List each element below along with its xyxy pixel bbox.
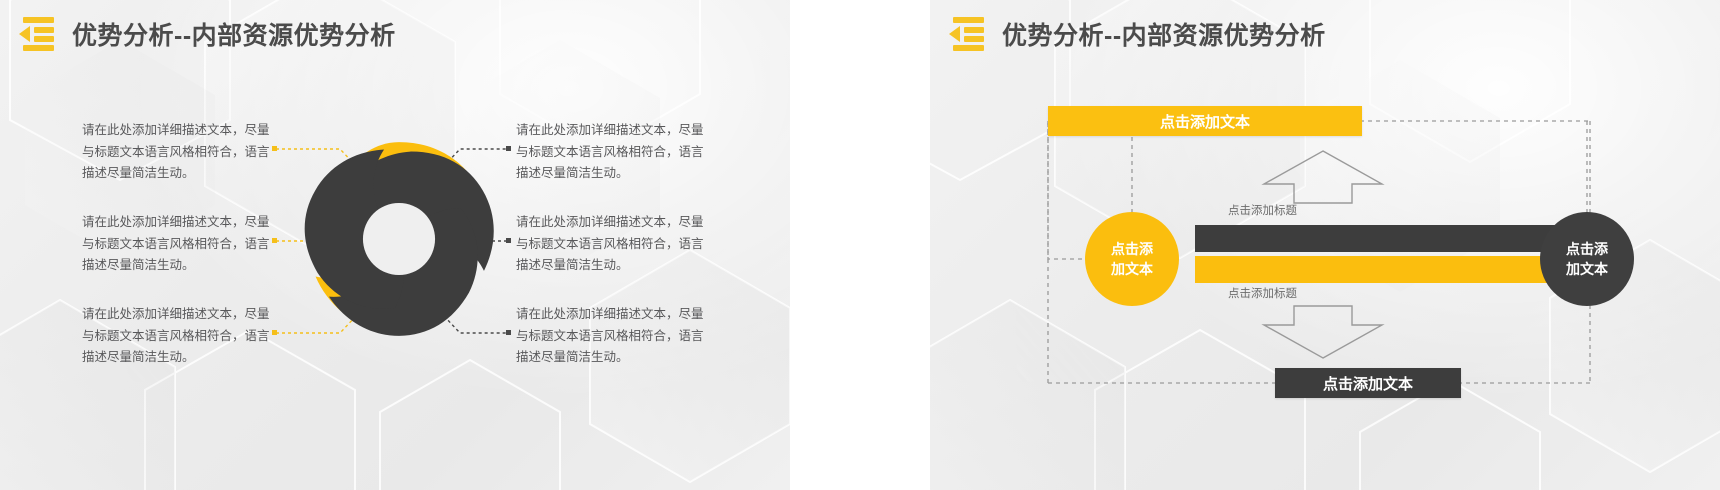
down-arrow-caption: 点击添加标题 xyxy=(1228,285,1297,301)
dark-left-arrow-bar[interactable] xyxy=(1195,225,1595,252)
top-bar-label: 点击添加文本 xyxy=(1160,111,1250,132)
pinwheel-hexagon-logo xyxy=(296,136,502,342)
description-left-1: 请在此处添加详细描述文本，尽量与标题文本语言风格相符合，语言描述尽量简洁生动。 xyxy=(82,120,272,185)
slide-header-left: 优势分析--内部资源优势分析 xyxy=(0,0,790,68)
description-right-1: 请在此处添加详细描述文本，尽量与标题文本语言风格相符合，语言描述尽量简洁生动。 xyxy=(516,120,706,185)
description-right-3: 请在此处添加详细描述文本，尽量与标题文本语言风格相符合，语言描述尽量简洁生动。 xyxy=(516,304,706,369)
down-arrow-icon xyxy=(1260,303,1386,361)
left-circle-line1: 点击添 xyxy=(1111,239,1153,259)
slide-separator xyxy=(790,0,930,490)
slide-right: 优势分析--内部资源优势分析 xyxy=(930,0,1720,490)
left-circle-line2: 加文本 xyxy=(1111,259,1153,279)
slide-left: 优势分析--内部资源优势分析 xyxy=(0,0,790,490)
page-title: 优势分析--内部资源优势分析 xyxy=(72,16,396,52)
bottom-dark-bar[interactable]: 点击添加文本 xyxy=(1275,368,1461,398)
right-circle-line1: 点击添 xyxy=(1566,239,1608,259)
description-right-2: 请在此处添加详细描述文本，尽量与标题文本语言风格相符合，语言描述尽量简洁生动。 xyxy=(516,212,706,277)
slide-header-right: 优势分析--内部资源优势分析 xyxy=(930,0,1720,68)
up-arrow-caption: 点击添加标题 xyxy=(1228,202,1297,218)
right-circle-line2: 加文本 xyxy=(1566,259,1608,279)
bottom-bar-label: 点击添加文本 xyxy=(1323,373,1413,394)
left-yellow-circle[interactable]: 点击添 加文本 xyxy=(1085,212,1179,306)
list-left-arrow-icon xyxy=(18,17,54,51)
top-yellow-bar[interactable]: 点击添加文本 xyxy=(1048,106,1362,136)
description-left-3: 请在此处添加详细描述文本，尽量与标题文本语言风格相符合，语言描述尽量简洁生动。 xyxy=(82,304,272,369)
yellow-right-arrow-bar[interactable] xyxy=(1195,256,1595,283)
right-dark-circle[interactable]: 点击添 加文本 xyxy=(1540,212,1634,306)
description-left-2: 请在此处添加详细描述文本，尽量与标题文本语言风格相符合，语言描述尽量简洁生动。 xyxy=(82,212,272,277)
slide-deck: 优势分析--内部资源优势分析 xyxy=(0,0,1720,490)
page-title: 优势分析--内部资源优势分析 xyxy=(1002,16,1326,52)
up-arrow-icon xyxy=(1260,148,1386,206)
list-left-arrow-icon xyxy=(948,17,984,51)
